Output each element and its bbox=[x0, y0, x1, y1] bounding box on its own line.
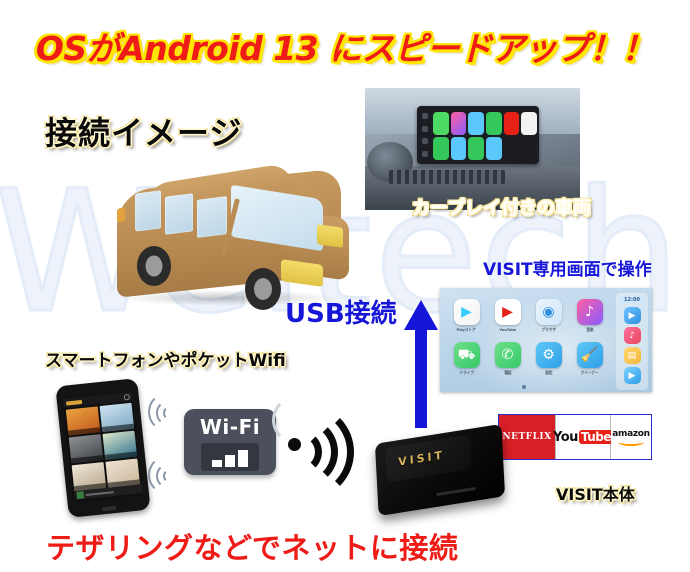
van-headlight-front bbox=[281, 259, 323, 287]
van-taillight bbox=[117, 208, 125, 223]
album-thumbnail bbox=[66, 406, 101, 435]
page-title: OSがAndroid 13 にスピードアップ！！ bbox=[0, 22, 690, 70]
app-label: Playストア bbox=[457, 327, 476, 333]
air-vent bbox=[389, 170, 505, 184]
visit-side-rail: 12:00 ▶♪▤▶ bbox=[616, 293, 648, 390]
carplay-app-icon bbox=[468, 137, 484, 160]
label-carplay-car: カープレイ付きの車両 bbox=[412, 194, 591, 220]
app-icon[interactable]: ♪ bbox=[577, 299, 603, 325]
sidebar-dot-icon bbox=[422, 151, 428, 157]
visit-app-cell[interactable]: ⛟ドライブ bbox=[446, 339, 487, 382]
album-thumbnail bbox=[103, 431, 138, 460]
carplay-app-icon bbox=[468, 112, 484, 135]
van-wheel-rear bbox=[137, 246, 171, 286]
rail-video-icon[interactable]: ▶ bbox=[624, 307, 641, 324]
sidebar-dot-icon bbox=[422, 126, 428, 132]
youtube-tube-text: Tube bbox=[579, 430, 613, 444]
van-headlight-side bbox=[317, 224, 343, 248]
wifi-signal-bars-icon bbox=[201, 443, 259, 471]
visit-app-cell[interactable]: ✆電話 bbox=[487, 339, 528, 382]
amazon-swoosh-icon bbox=[618, 438, 644, 446]
search-icon bbox=[123, 393, 130, 400]
label-usb-connection: USB接続 bbox=[285, 293, 397, 330]
carplay-app-icon bbox=[521, 112, 537, 135]
app-label: YouTube bbox=[499, 327, 516, 332]
album-thumbnail bbox=[69, 434, 104, 463]
album-thumbnail bbox=[100, 403, 135, 432]
label-connection-image: 接続イメージ bbox=[45, 108, 242, 154]
van-window-rear bbox=[135, 190, 161, 231]
carplay-app-grid bbox=[432, 111, 538, 161]
visit-device-body bbox=[375, 424, 505, 516]
app-label: 音楽 bbox=[586, 327, 593, 333]
visit-android-screen: ▶Playストア▶YouTube◉ブラウザ♪音楽⛟ドライブ✆電話⚙設定🧹クリーナ… bbox=[440, 288, 652, 392]
album-thumbnail bbox=[72, 462, 107, 491]
visit-app-cell[interactable]: ♪音楽 bbox=[569, 296, 610, 339]
visit-app-grid: ▶Playストア▶YouTube◉ブラウザ♪音楽⛟ドライブ✆電話⚙設定🧹クリーナ… bbox=[446, 296, 610, 382]
carplay-app-icon bbox=[486, 112, 502, 135]
rail-book-icon[interactable]: ▤ bbox=[624, 347, 641, 364]
page-indicator-dot bbox=[522, 385, 526, 389]
wifi-wave-3 bbox=[258, 404, 354, 500]
app-label: ブラウザ bbox=[541, 327, 555, 333]
visit-app-cell[interactable]: ◉ブラウザ bbox=[528, 296, 569, 339]
album-thumbnail bbox=[105, 458, 140, 487]
visit-app-cell[interactable]: 🧹クリーナー bbox=[569, 339, 610, 382]
carplay-sidebar bbox=[420, 110, 429, 160]
carplay-app-icon bbox=[433, 112, 449, 135]
app-label: ドライブ bbox=[459, 370, 473, 376]
phone-app-logo-icon bbox=[66, 399, 82, 405]
streaming-logos-strip: NETFLIX You Tube amazon bbox=[498, 414, 652, 460]
app-icon[interactable]: ▶ bbox=[495, 299, 521, 325]
youtube-logo: You Tube bbox=[555, 415, 611, 459]
infographic-canvas: Weitech OSがAndroid 13 にスピードアップ！！ bbox=[0, 0, 690, 572]
van-window-mid bbox=[165, 193, 193, 234]
phone-screen bbox=[63, 392, 143, 503]
app-label: 設定 bbox=[545, 370, 552, 376]
smartphone-illustration bbox=[55, 378, 150, 518]
usb-connection-arrow bbox=[404, 300, 438, 428]
carplay-dashboard-photo bbox=[365, 88, 580, 210]
amazon-logo: amazon bbox=[611, 415, 651, 459]
now-playing-thumb-icon bbox=[76, 491, 84, 499]
app-icon[interactable]: ✆ bbox=[495, 342, 521, 368]
rail-music-icon[interactable]: ♪ bbox=[624, 327, 641, 344]
label-tethering: テザリングなどでネットに接続 bbox=[46, 525, 458, 567]
carplay-app-icon bbox=[433, 137, 449, 160]
status-clock: 12:00 bbox=[620, 296, 644, 304]
app-label: 電話 bbox=[504, 370, 511, 376]
app-icon[interactable]: 🧹 bbox=[577, 342, 603, 368]
sidebar-dot-icon bbox=[422, 113, 428, 119]
carplay-app-icon bbox=[486, 137, 502, 160]
label-visit-body: VISIT本体 bbox=[556, 481, 635, 505]
visit-app-cell[interactable]: ▶Playストア bbox=[446, 296, 487, 339]
wifi-waves-icon bbox=[284, 404, 364, 482]
carplay-display bbox=[417, 106, 539, 164]
phone-album-grid bbox=[64, 401, 143, 494]
youtube-you-text: You bbox=[553, 430, 578, 445]
visit-app-cell[interactable]: ⚙設定 bbox=[528, 339, 569, 382]
van-window-front bbox=[197, 196, 227, 238]
signal-arcs-lower-icon bbox=[148, 455, 188, 495]
app-icon[interactable]: ◉ bbox=[536, 299, 562, 325]
visit-app-cell[interactable]: ▶YouTube bbox=[487, 296, 528, 339]
app-icon[interactable]: ▶ bbox=[454, 299, 480, 325]
now-playing-title-line bbox=[86, 491, 114, 496]
carplay-app-icon bbox=[504, 112, 520, 135]
rail-player-icon[interactable]: ▶ bbox=[624, 367, 641, 384]
carplay-app-icon bbox=[451, 112, 467, 135]
app-label: クリーナー bbox=[580, 370, 598, 376]
sidebar-dot-icon bbox=[422, 138, 428, 144]
app-icon[interactable]: ⛟ bbox=[454, 342, 480, 368]
visit-device-illustration: VISIT bbox=[372, 424, 512, 516]
carplay-app-icon bbox=[451, 137, 467, 160]
app-icon[interactable]: ⚙ bbox=[536, 342, 562, 368]
signal-arcs-upper-icon bbox=[148, 392, 188, 432]
arrow-shaft bbox=[415, 326, 427, 428]
label-smartphone-wifi: スマートフォンやポケットWifi bbox=[45, 346, 286, 371]
van-wheel-front bbox=[245, 268, 281, 310]
label-visit-screen: VISIT専用画面で操作 bbox=[483, 255, 652, 280]
